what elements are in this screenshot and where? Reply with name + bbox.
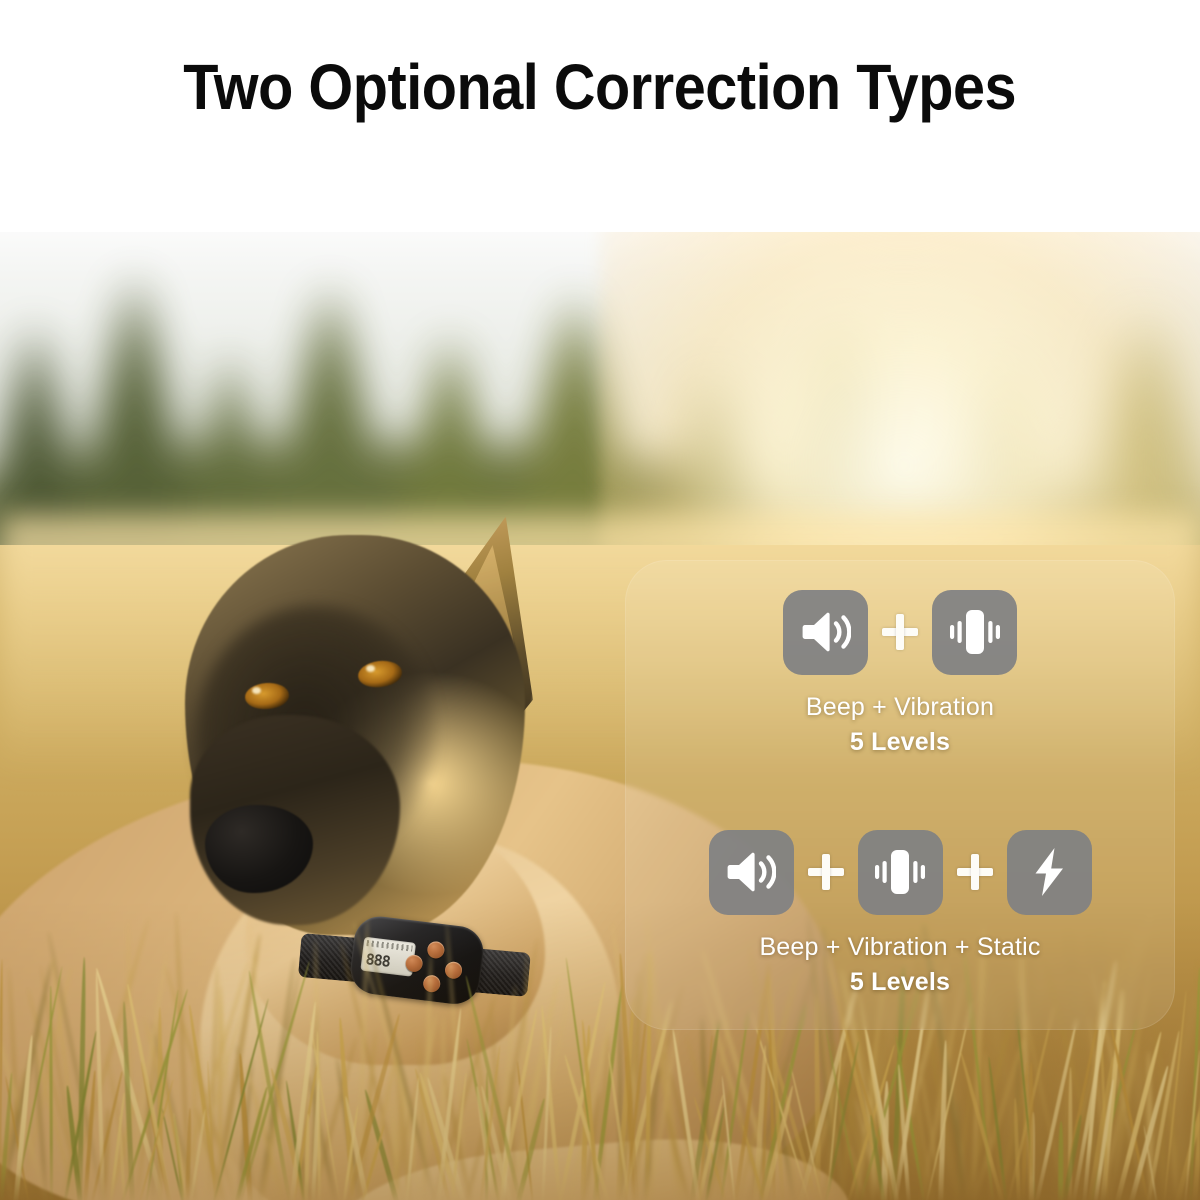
option-label-1: Beep + Vibration bbox=[625, 690, 1175, 725]
speaker-icon bbox=[801, 609, 851, 655]
option-levels-1: 5 Levels bbox=[625, 725, 1175, 760]
vibration-icon-tile bbox=[858, 830, 943, 915]
page-title: Two Optional Correction Types bbox=[184, 55, 1017, 119]
correction-option-beep-vibration-static: Beep + Vibration + Static 5 Levels bbox=[625, 828, 1175, 1000]
option-label-group-2: Beep + Vibration + Static 5 Levels bbox=[625, 930, 1175, 1000]
speaker-icon bbox=[726, 849, 776, 895]
static-icon-tile bbox=[1007, 830, 1092, 915]
dog-eye-highlight-right bbox=[366, 665, 375, 672]
option-levels-2: 5 Levels bbox=[625, 965, 1175, 1000]
icon-row-2 bbox=[625, 828, 1175, 916]
vibration-icon-tile bbox=[932, 590, 1017, 675]
plus-separator-icon bbox=[957, 854, 993, 890]
lightning-bolt-icon bbox=[1029, 847, 1069, 897]
header-band: Two Optional Correction Types bbox=[0, 0, 1200, 232]
speaker-icon-tile bbox=[709, 830, 794, 915]
correction-types-card: Beep + Vibration 5 Levels bbox=[625, 560, 1175, 1030]
vibration-icon bbox=[874, 848, 926, 896]
option-label-group-1: Beep + Vibration 5 Levels bbox=[625, 690, 1175, 760]
product-feature-image: 888 bbox=[0, 0, 1200, 1200]
vibration-icon bbox=[949, 608, 1001, 656]
speaker-icon-tile bbox=[783, 590, 868, 675]
lifestyle-photo: 888 bbox=[0, 215, 1200, 1200]
correction-option-beep-vibration: Beep + Vibration 5 Levels bbox=[625, 588, 1175, 760]
plus-separator-icon bbox=[882, 614, 918, 650]
dog-eye-highlight-left bbox=[252, 687, 261, 694]
option-label-2: Beep + Vibration + Static bbox=[625, 930, 1175, 965]
icon-row-1 bbox=[625, 588, 1175, 676]
plus-separator-icon bbox=[808, 854, 844, 890]
